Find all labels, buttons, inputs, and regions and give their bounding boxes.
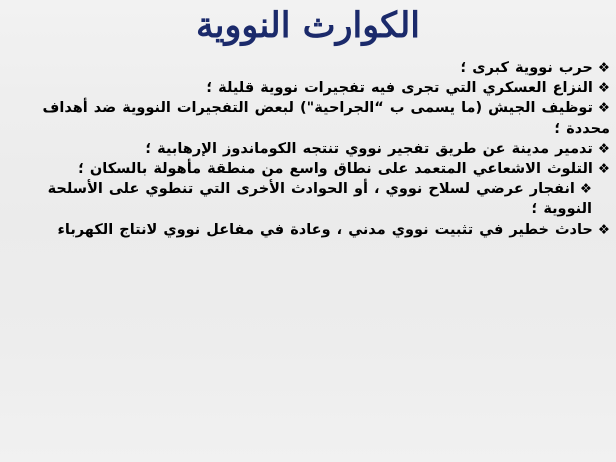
list-item-label: تدمير مدينة عن طريق تفجير نووي تنتجه الك… xyxy=(145,141,593,157)
diamond-floret-bullet-icon: ❖ xyxy=(575,181,592,197)
list-item-label: التلوث الاشعاعي المتعمد على نطاق واسع من… xyxy=(78,161,593,177)
diamond-floret-bullet-icon: ❖ xyxy=(593,141,610,157)
diamond-floret-bullet-icon: ❖ xyxy=(593,100,610,116)
list-item-label: النزاع العسكري التي تجرى فيه تفجيرات نوو… xyxy=(206,80,593,96)
bullet-list: ❖حرب نووية كبرى ؛ ❖النزاع العسكري التي ت… xyxy=(6,58,610,240)
diamond-floret-bullet-icon: ❖ xyxy=(593,80,610,96)
page-title: الكوارث النووية xyxy=(0,2,616,50)
presentation-slide: الكوارث النووية ❖حرب نووية كبرى ؛ ❖النزا… xyxy=(0,0,616,462)
list-item-label: توظيف الجيش (ما يسمى ب “الجراحية") لبعض … xyxy=(43,100,611,136)
list-item: ❖حادث خطير في تثبيت نووي مدني ، وعادة في… xyxy=(6,220,610,240)
list-item: ❖النزاع العسكري التي تجرى فيه تفجيرات نو… xyxy=(6,78,610,98)
list-item: ❖انفجار عرضي لسلاح نووي ، أو الحوادث الأ… xyxy=(6,179,610,219)
list-item: ❖توظيف الجيش (ما يسمى ب “الجراحية") لبعض… xyxy=(6,98,610,138)
list-item: ❖تدمير مدينة عن طريق تفجير نووي تنتجه ال… xyxy=(6,139,610,159)
diamond-floret-bullet-icon: ❖ xyxy=(593,161,610,177)
list-item: ❖حرب نووية كبرى ؛ xyxy=(6,58,610,78)
list-item-label: حرب نووية كبرى ؛ xyxy=(460,60,592,76)
diamond-floret-bullet-icon: ❖ xyxy=(593,60,610,76)
list-item-label: انفجار عرضي لسلاح نووي ، أو الحوادث الأخ… xyxy=(48,181,592,217)
diamond-floret-bullet-icon: ❖ xyxy=(593,222,610,238)
list-item: ❖التلوث الاشعاعي المتعمد على نطاق واسع م… xyxy=(6,159,610,179)
list-item-label: حادث خطير في تثبيت نووي مدني ، وعادة في … xyxy=(57,222,592,238)
